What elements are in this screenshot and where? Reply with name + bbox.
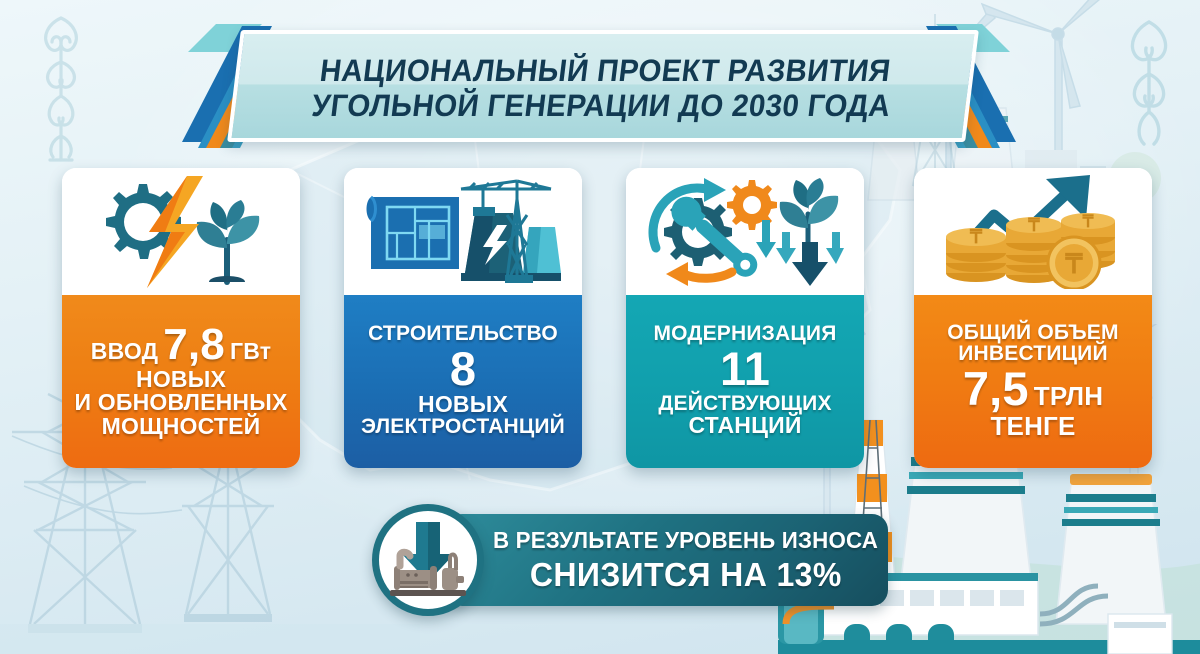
card-1-icon-area: [62, 168, 300, 295]
bottom-banner-line2: СНИЗИТСЯ НА 13%: [530, 556, 842, 594]
title-line-1: НАЦИОНАЛЬНЫЙ ПРОЕКТ РАЗВИТИЯ: [318, 53, 893, 88]
coins-growth-arrow-icon: ₸ ₸: [938, 175, 1128, 289]
card-1-headline: ВВОД 7,8 ГВт: [91, 323, 271, 368]
card-1-prefix: ВВОД: [91, 340, 158, 363]
gear-wrench-plant-arrows-icon: [646, 176, 844, 288]
svg-text:₸: ₸: [1082, 212, 1094, 231]
bottom-banner-line1: В РЕЗУЛЬТАТЕ УРОВЕНЬ ИЗНОСА: [493, 527, 878, 554]
card-construction[interactable]: СТРОИТЕЛЬСТВО 8 НОВЫХ ЭЛЕКТРОСТАНЦИЙ: [344, 168, 582, 468]
blueprint-crane-powerplant-icon: [365, 175, 561, 289]
card-4-value: 7,5: [963, 365, 1029, 413]
card-2-icon-area: [344, 168, 582, 295]
card-1-line3: И ОБНОВЛЕННЫХ: [74, 391, 287, 414]
svg-text:₸: ₸: [969, 227, 983, 248]
card-1-value: 7,8: [163, 323, 225, 368]
card-4-prefix: ОБЩИЙ ОБЪЕМ: [947, 322, 1118, 343]
card-4-icon-area: ₸ ₸: [914, 168, 1152, 295]
card-1-line4: МОЩНОСТЕЙ: [102, 415, 261, 438]
bottom-banner[interactable]: В РЕЗУЛЬТАТЕ УРОВЕНЬ ИЗНОСА СНИЗИТСЯ НА …: [372, 504, 888, 616]
card-3-line3: СТАНЦИЙ: [688, 414, 801, 437]
card-3-line2: ДЕЙСТВУЮЩИХ: [658, 393, 831, 414]
card-1-unit: ГВт: [230, 340, 271, 363]
card-3-text: МОДЕРНИЗАЦИЯ 11 ДЕЙСТВУЮЩИХ СТАНЦИЙ: [626, 295, 864, 468]
title-line-2: УГОЛЬНОЙ ГЕНЕРАЦИИ ДО 2030 ГОДА: [309, 88, 892, 123]
card-4-line2: ТЕНГЕ: [990, 413, 1075, 440]
card-1-line2: НОВЫХ: [136, 368, 226, 391]
card-2-line3: ЭЛЕКТРОСТАНЦИЙ: [361, 416, 565, 437]
old-pump-down-arrow-icon: [386, 520, 470, 600]
card-2-text: СТРОИТЕЛЬСТВО 8 НОВЫХ ЭЛЕКТРОСТАНЦИЙ: [344, 295, 582, 468]
card-4-amount-row: 7,5 ТРЛН: [963, 365, 1103, 413]
card-2-value: 8: [450, 345, 476, 393]
card-1-text: ВВОД 7,8 ГВт НОВЫХ И ОБНОВЛЕННЫХ МОЩНОСТ…: [62, 295, 300, 468]
title-banner: НАЦИОНАЛЬНЫЙ ПРОЕКТ РАЗВИТИЯ УГОЛЬНОЙ ГЕ…: [176, 24, 1022, 148]
title-text-block: НАЦИОНАЛЬНЫЙ ПРОЕКТ РАЗВИТИЯ УГОЛЬНОЙ ГЕ…: [244, 40, 962, 136]
bottom-banner-text: В РЕЗУЛЬТАТЕ УРОВЕНЬ ИЗНОСА СНИЗИТСЯ НА …: [490, 518, 882, 602]
card-4-text: ОБЩИЙ ОБЪЕМ ИНВЕСТИЦИЙ 7,5 ТРЛН ТЕНГЕ: [914, 295, 1152, 468]
infographic-canvas: НАЦИОНАЛЬНЫЙ ПРОЕКТ РАЗВИТИЯ УГОЛЬНОЙ ГЕ…: [0, 0, 1200, 654]
bottom-banner-icon-circle: [372, 504, 484, 616]
card-2-line2: НОВЫХ: [418, 393, 508, 416]
card-4-unit: ТРЛН: [1034, 383, 1103, 410]
svg-text:₸: ₸: [1064, 249, 1083, 279]
kazakh-ornament-left-icon: [28, 10, 94, 180]
card-commissioning[interactable]: ВВОД 7,8 ГВт НОВЫХ И ОБНОВЛЕННЫХ МОЩНОСТ…: [62, 168, 300, 468]
card-3-value: 11: [720, 345, 770, 393]
gear-lightning-plant-icon: [87, 176, 275, 288]
card-investments[interactable]: ₸ ₸: [914, 168, 1152, 468]
svg-text:₸: ₸: [1027, 215, 1040, 235]
card-modernization[interactable]: МОДЕРНИЗАЦИЯ 11 ДЕЙСТВУЮЩИХ СТАНЦИЙ: [626, 168, 864, 468]
card-3-icon-area: [626, 168, 864, 295]
